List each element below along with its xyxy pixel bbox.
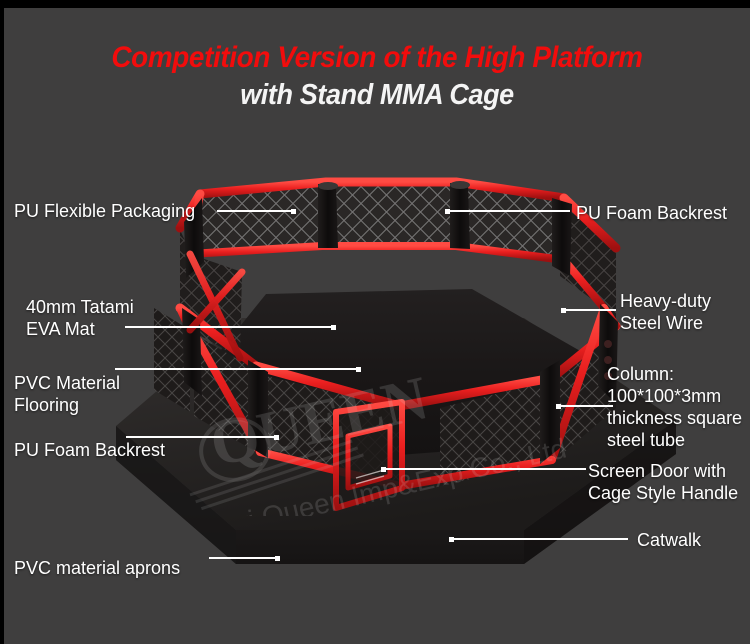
leader-pvc-material-aprons xyxy=(209,557,279,559)
leader-tatami-eva-mat xyxy=(125,326,335,328)
post-pad-back-right xyxy=(450,183,470,249)
callout-tatami-eva-mat: 40mm Tatami EVA Mat xyxy=(26,296,134,340)
callout-pvc-material-flooring: PVC Material Flooring xyxy=(14,372,120,416)
callout-catwalk: Catwalk xyxy=(637,529,701,551)
mesh-panel-back-center xyxy=(334,184,456,246)
callout-pu-foam-backrest-right: PU Foam Backrest xyxy=(576,202,727,224)
post-pad-front-left xyxy=(248,360,268,458)
callout-column-spec: Column: 100*100*3mm thickness square ste… xyxy=(607,363,742,451)
post-pad-back-left xyxy=(318,184,338,248)
leader-column-spec xyxy=(557,405,613,407)
callout-pvc-material-aprons: PVC material aprons xyxy=(14,557,180,579)
leader-dot xyxy=(274,435,279,440)
infographic-page: Competition Version of the High Platform… xyxy=(0,0,750,644)
leader-pu-flexible-packaging xyxy=(217,210,295,212)
title-line-1: Competition Version of the High Platform xyxy=(30,42,724,74)
leader-dot xyxy=(561,308,566,313)
leader-heavy-duty-steel-wire xyxy=(562,309,616,311)
leader-dot xyxy=(445,209,450,214)
page-title: Competition Version of the High Platform… xyxy=(4,42,750,112)
leader-dot xyxy=(331,325,336,330)
leader-dot xyxy=(275,556,280,561)
infographic-canvas: Competition Version of the High Platform… xyxy=(4,8,750,644)
callout-heavy-duty-steel-wire: Heavy-duty Steel Wire xyxy=(620,290,711,334)
leader-dot xyxy=(381,467,386,472)
callout-pu-foam-backrest-left: PU Foam Backrest xyxy=(14,439,165,461)
leader-screen-door xyxy=(382,468,586,470)
post-pad-front-right xyxy=(540,360,560,464)
title-line-2: with Stand MMA Cage xyxy=(30,80,724,111)
leader-dot xyxy=(556,404,561,409)
leader-dot xyxy=(356,367,361,372)
leader-dot xyxy=(291,209,296,214)
callout-pu-flexible-packaging: PU Flexible Packaging xyxy=(14,200,195,222)
callout-screen-door: Screen Door with Cage Style Handle xyxy=(588,460,738,504)
leader-dot xyxy=(449,537,454,542)
leader-catwalk xyxy=(450,538,628,540)
leader-pvc-material-flooring xyxy=(115,368,360,370)
leader-pu-foam-backrest-left xyxy=(126,436,278,438)
leader-pu-foam-backrest-right xyxy=(446,210,570,212)
